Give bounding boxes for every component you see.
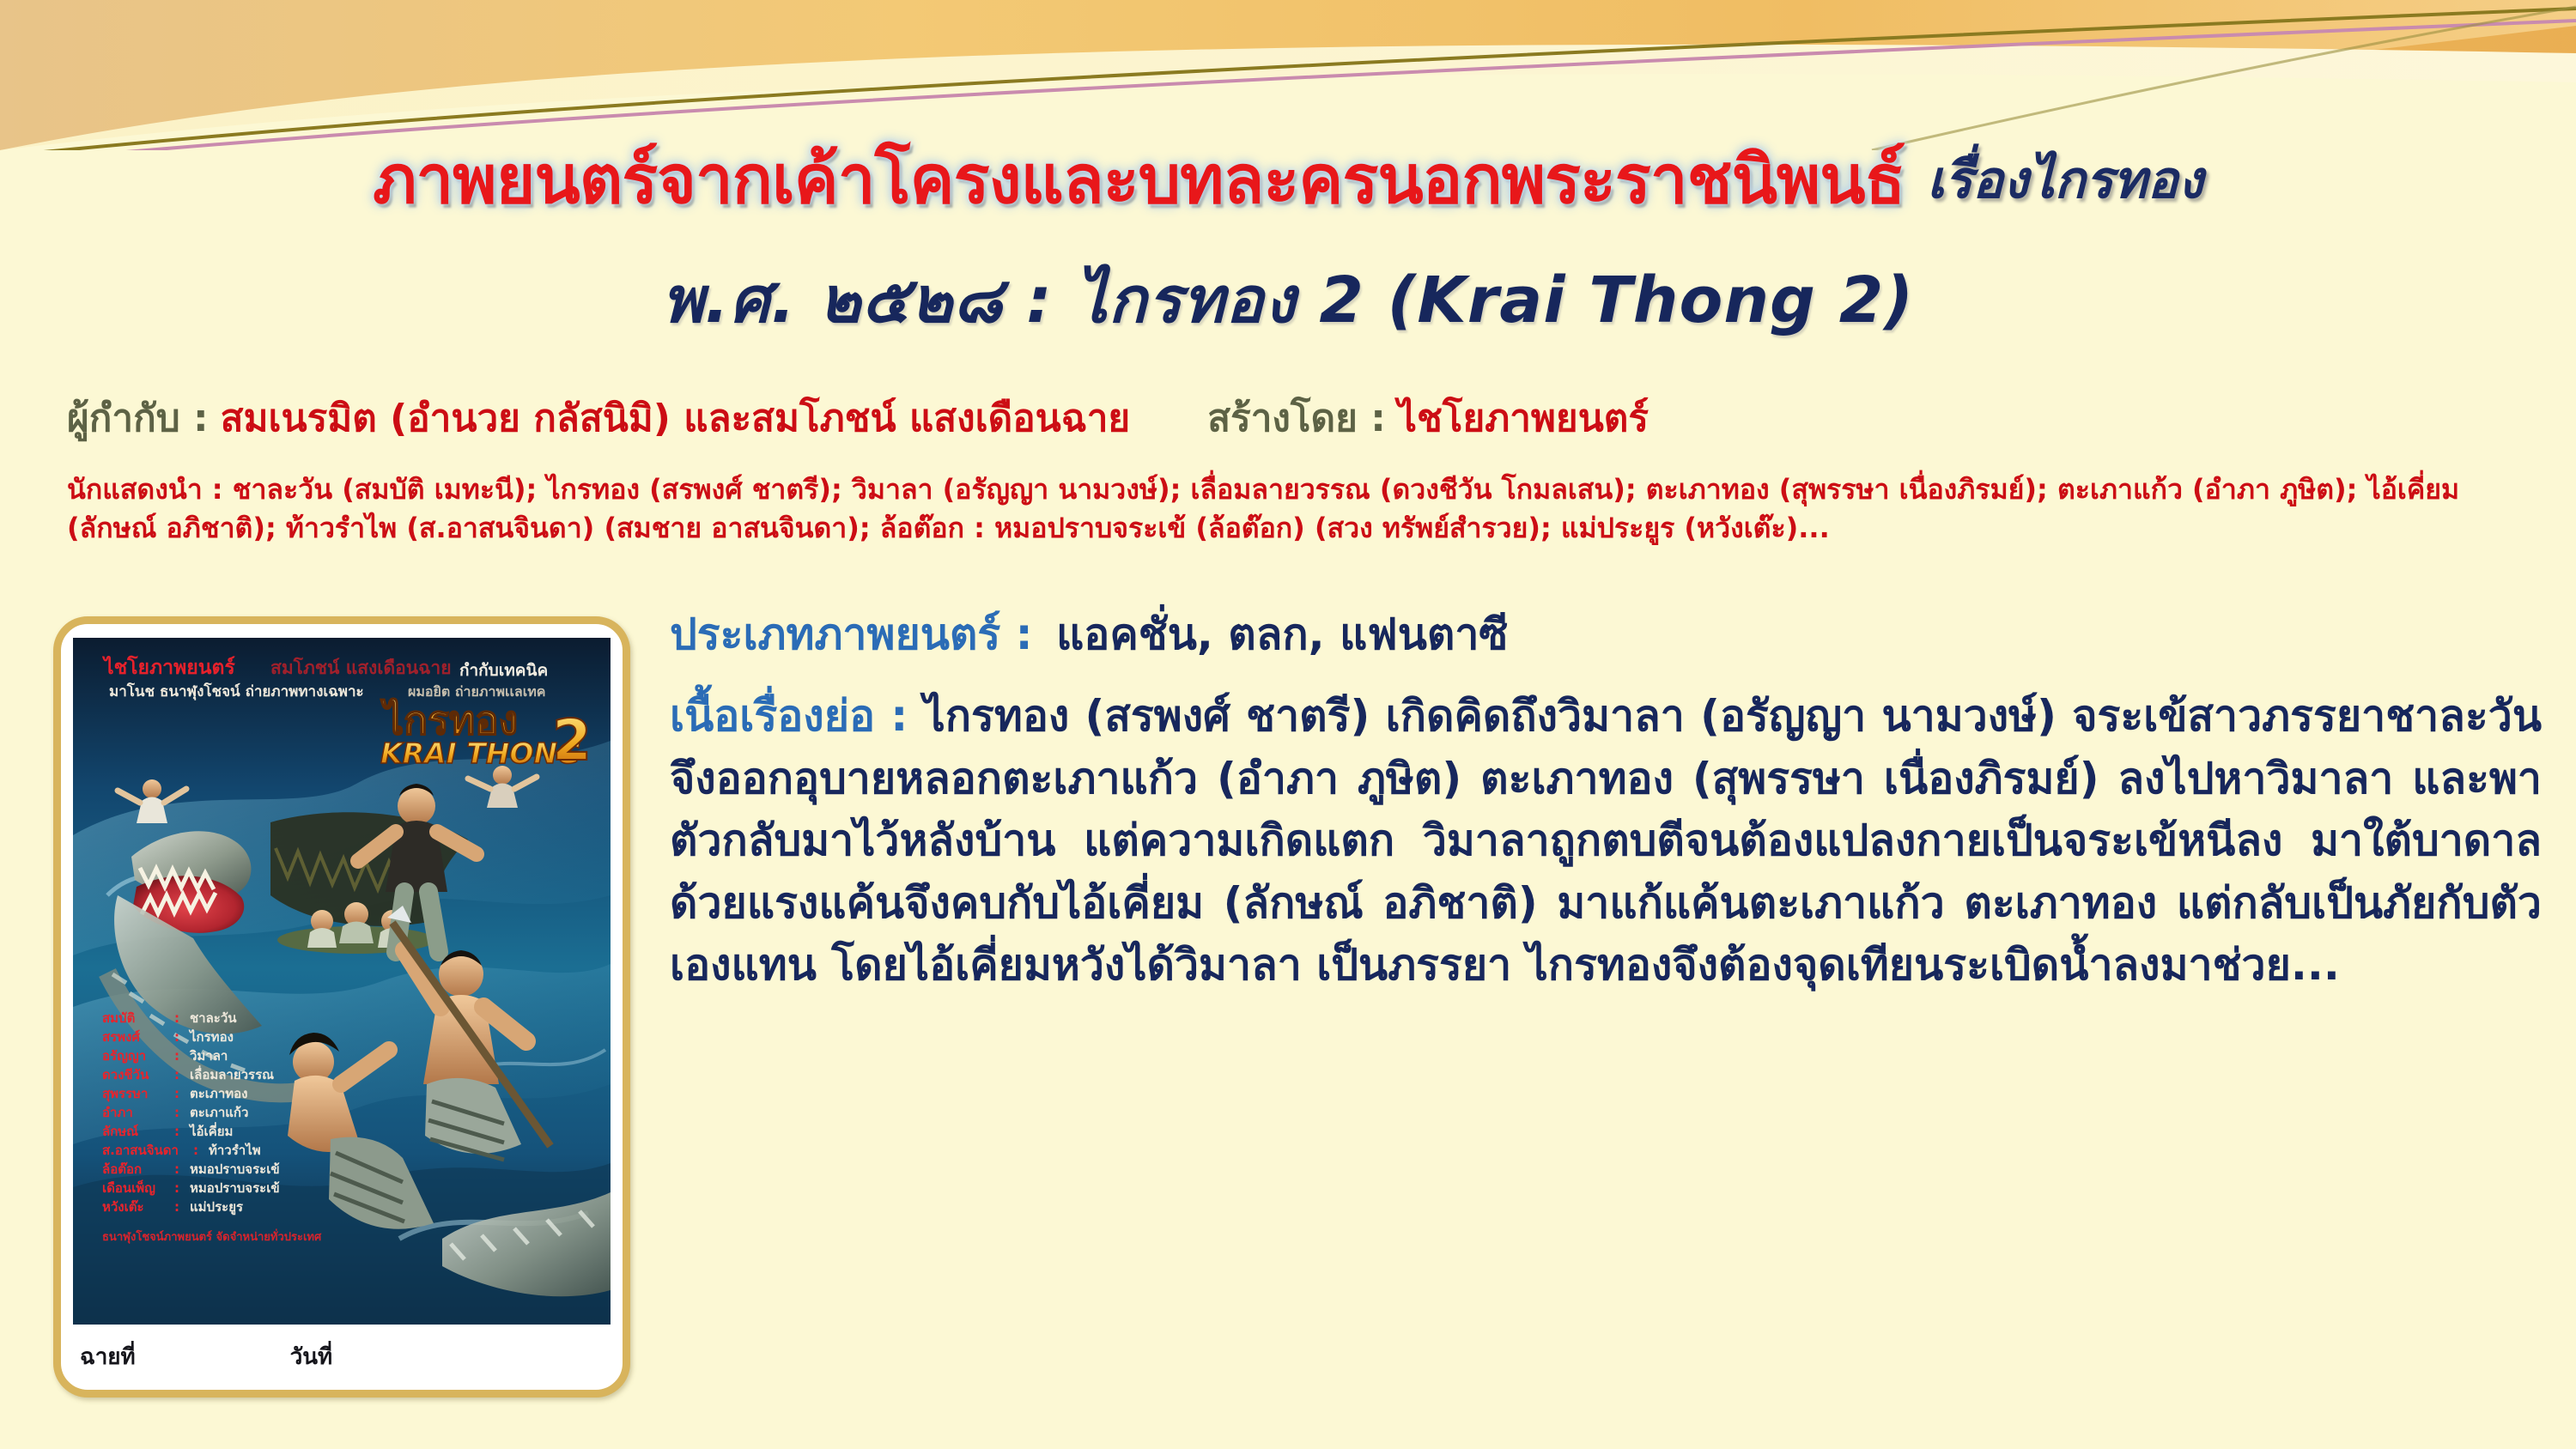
genre-label: ประเภทภาพยนตร์ : bbox=[670, 609, 1033, 659]
svg-text::: : bbox=[174, 1199, 179, 1215]
synopsis-text: ไกรทอง (สรพงศ์ ชาตรี) เกิดคิดถึงวิมาลา (… bbox=[670, 691, 2542, 990]
svg-text:กำกับเทคนิค: กำกับเทคนิค bbox=[459, 661, 548, 680]
producer-value: ไชโยภาพยนตร์ bbox=[1398, 388, 1649, 448]
svg-text:หมอปราบจระเข้: หมอปราบจระเข้ bbox=[190, 1180, 280, 1196]
svg-text:ตะเภาแก้ว: ตะเภาแก้ว bbox=[190, 1105, 248, 1120]
svg-text:สรพงศ์: สรพงศ์ bbox=[102, 1029, 140, 1045]
poster-footer: ฉายที่ วันที่ bbox=[73, 1331, 611, 1381]
svg-text:สุพรรษา: สุพรรษา bbox=[102, 1086, 148, 1102]
svg-text:เลื่อมลายวรรณ: เลื่อมลายวรรณ bbox=[190, 1065, 274, 1082]
svg-text::: : bbox=[174, 1105, 179, 1120]
movie-poster-frame[interactable]: ไชโยภาพยนตร์ สมโภชน์ แสงเดือนฉาย กำกับเท… bbox=[53, 616, 630, 1397]
poster-illustration: ไชโยภาพยนตร์ สมโภชน์ แสงเดือนฉาย กำกับเท… bbox=[73, 638, 611, 1325]
svg-text:สมโภชน์ แสงเดือนฉาย: สมโภชน์ แสงเดือนฉาย bbox=[270, 657, 452, 678]
poster-footer-left: ฉายที่ bbox=[80, 1339, 136, 1374]
svg-text:วิมาลา: วิมาลา bbox=[189, 1048, 228, 1064]
svg-text:หมอปราบจระเข้: หมอปราบจระเข้ bbox=[190, 1161, 280, 1177]
page-title-main: ภาพยนตร์จากเค้าโครงและบทละครนอกพระราชนิพ… bbox=[373, 147, 1905, 214]
svg-text::: : bbox=[193, 1143, 198, 1158]
movie-poster-artwork: ไชโยภาพยนตร์ สมโภชน์ แสงเดือนฉาย กำกับเท… bbox=[73, 638, 611, 1325]
credits-row: ผู้กำกับ : สมเนรมิต (อำนวย กลัสนิมิ) และ… bbox=[67, 388, 2523, 445]
svg-text:ลักษณ์: ลักษณ์ bbox=[102, 1124, 138, 1139]
director-value: สมเนรมิต (อำนวย กลัสนิมิ) และสมโภชน์ แสง… bbox=[221, 388, 1131, 448]
svg-text:เดือนเพ็ญ: เดือนเพ็ญ bbox=[102, 1179, 155, 1196]
svg-text:ไอ้เคี่ยม: ไอ้เคี่ยม bbox=[188, 1122, 233, 1139]
svg-text::: : bbox=[174, 1029, 179, 1045]
svg-text:ล้อต๊อก: ล้อต๊อก bbox=[102, 1161, 142, 1177]
cast-list-text: นักแสดงนำ : ชาละวัน (สมบัติ เมทะนี); ไกร… bbox=[67, 470, 2531, 549]
svg-text:ไกรทอง: ไกรทอง bbox=[188, 1028, 234, 1045]
svg-text::: : bbox=[174, 1180, 179, 1196]
svg-text::: : bbox=[174, 1086, 179, 1101]
svg-text:สมบัติ: สมบัติ bbox=[102, 1010, 135, 1026]
producer-label: สร้างโดย : bbox=[1207, 388, 1386, 448]
poster-footer-right: วันที่ bbox=[290, 1339, 333, 1374]
genre-row: ประเภทภาพยนตร์ : แอคชั่น, ตลก, แฟนตาซี bbox=[670, 611, 2542, 658]
synopsis-block: เนื้อเรื่องย่อ : ไกรทอง (สรพงศ์ ชาตรี) เ… bbox=[670, 685, 2542, 997]
svg-text:หวังเต๊ะ: หวังเต๊ะ bbox=[102, 1199, 144, 1215]
svg-text::: : bbox=[174, 1067, 179, 1082]
svg-text:ตะเภาทอง: ตะเภาทอง bbox=[190, 1086, 247, 1101]
director-label: ผู้กำกับ : bbox=[67, 388, 209, 448]
banner-svg bbox=[0, 0, 2576, 150]
svg-text:ดวงชีวัน: ดวงชีวัน bbox=[102, 1067, 149, 1082]
svg-text::: : bbox=[174, 1010, 179, 1026]
svg-text:ไชโยภาพยนตร์: ไชโยภาพยนตร์ bbox=[101, 655, 235, 679]
genre-value: แอคชั่น, ตลก, แฟนตาซี bbox=[1056, 609, 1508, 659]
svg-text::: : bbox=[174, 1161, 179, 1177]
decorative-top-banner bbox=[0, 0, 2576, 150]
svg-text:อำภา: อำภา bbox=[102, 1105, 133, 1120]
svg-text:อรัญญา: อรัญญา bbox=[102, 1048, 146, 1064]
film-title-line: พ.ศ. ๒๕๒๘ : ไกรทอง 2 (Krai Thong 2) bbox=[0, 249, 2576, 350]
svg-text:ชาละวัน: ชาละวัน bbox=[190, 1010, 237, 1026]
svg-text::: : bbox=[174, 1048, 179, 1064]
svg-text:ท้าวรำไพ: ท้าวรำไพ bbox=[209, 1142, 261, 1158]
svg-text:ธนาฬุงโชจน์ภาพยนตร์ จัดจำหน่าย: ธนาฬุงโชจน์ภาพยนตร์ จัดจำหน่ายทั่วประเทศ bbox=[102, 1228, 322, 1244]
svg-text:2: 2 bbox=[552, 707, 592, 773]
slide-root: ภาพยนตร์จากเค้าโครงและบทละครนอกพระราชนิพ… bbox=[0, 0, 2576, 1449]
svg-text:ส.อาสนจินดา: ส.อาสนจินดา bbox=[102, 1143, 179, 1158]
svg-text::: : bbox=[174, 1124, 179, 1139]
svg-text:แม่ประยูร: แม่ประยูร bbox=[190, 1199, 244, 1216]
page-title-sub: เรื่องไกรทอง bbox=[1927, 155, 2203, 206]
svg-text:KRAI THONG: KRAI THONG bbox=[380, 737, 580, 770]
svg-text:มาโนช ธนาฬุงโชจน์ ถ่ายภาพทางเฉ: มาโนช ธนาฬุงโชจน์ ถ่ายภาพทางเฉพาะ bbox=[109, 682, 364, 700]
synopsis-label: เนื้อเรื่องย่อ : bbox=[670, 691, 908, 741]
header-title-row: ภาพยนตร์จากเค้าโครงและบทละครนอกพระราชนิพ… bbox=[0, 129, 2576, 232]
